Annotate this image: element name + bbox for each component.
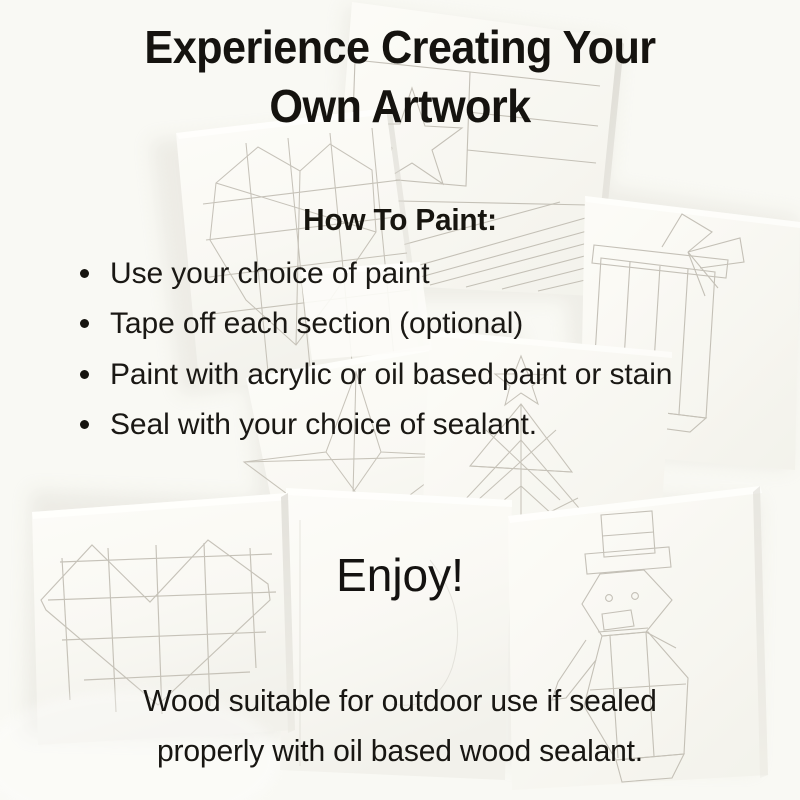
page-title-line-1: Experience Creating Your (24, 18, 776, 77)
how-to-paint-heading: How To Paint: (16, 202, 784, 238)
text-overlay: Experience Creating Your Own Artwork How… (0, 0, 800, 800)
list-item: Tape off each section (optional) (74, 300, 764, 347)
list-item: Use your choice of paint (74, 250, 764, 297)
list-item: Seal with your choice of sealant. (74, 401, 764, 448)
list-item-label: Paint with acrylic or oil based paint or… (110, 358, 672, 391)
bullet-icon (80, 420, 89, 429)
list-item: Paint with acrylic or oil based paint or… (74, 351, 764, 398)
bullet-icon (80, 269, 89, 278)
page-title: Experience Creating Your Own Artwork (24, 18, 776, 136)
page-title-line-2: Own Artwork (24, 77, 776, 136)
bullet-icon (80, 319, 89, 328)
bullet-icon (80, 370, 89, 379)
list-item-label: Seal with your choice of sealant. (110, 408, 537, 441)
list-item-label: Use your choice of paint (110, 257, 429, 290)
sealant-footnote: Wood suitable for outdoor use if sealed … (12, 676, 788, 775)
how-to-paint-steps-list: Use your choice of paint Tape off each s… (74, 250, 764, 452)
enjoy-callout: Enjoy! (0, 548, 800, 602)
poster-canvas: Experience Creating Your Own Artwork How… (0, 0, 800, 800)
sealant-footnote-line-2: properly with oil based wood sealant. (12, 726, 788, 776)
list-item-label: Tape off each section (optional) (110, 307, 523, 340)
sealant-footnote-line-1: Wood suitable for outdoor use if sealed (12, 676, 788, 726)
